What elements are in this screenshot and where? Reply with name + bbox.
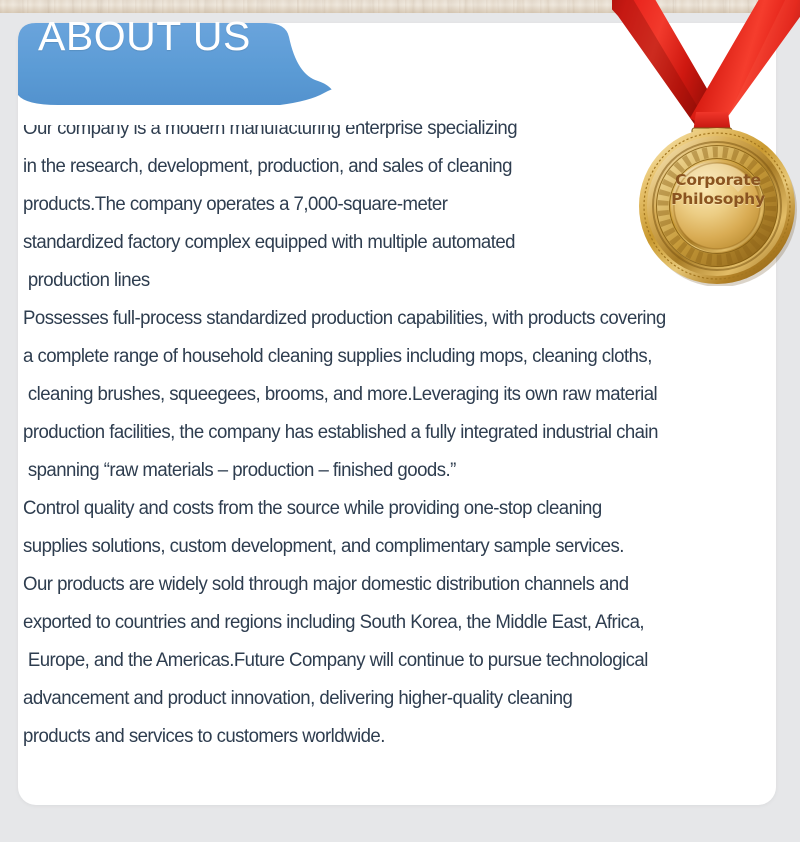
wood-texture-strip <box>0 0 800 13</box>
body-line: a complete range of household cleaning s… <box>23 338 752 376</box>
body-line: spanning “raw materials – production – f… <box>23 452 752 490</box>
paragraph-3: Control quality and costs from the sourc… <box>23 490 778 756</box>
body-line: supplies solutions, custom development, … <box>23 528 752 566</box>
body-line: exported to countries and regions includ… <box>23 604 752 642</box>
body-line: Our products are widely sold through maj… <box>23 566 752 604</box>
body-line: Possesses full-process standardized prod… <box>23 300 752 338</box>
medal-svg <box>638 126 798 286</box>
body-line: Control quality and costs from the sourc… <box>23 490 752 528</box>
body-line: advancement and product innovation, deli… <box>23 680 752 718</box>
wood-grain-overlay <box>0 0 800 13</box>
tab-card-junction <box>18 85 358 125</box>
body-line: Europe, and the Americas.Future Company … <box>23 642 752 680</box>
corporate-philosophy-medal: Corporate Philosophy <box>638 126 798 286</box>
page-title: ABOUT US <box>38 13 251 60</box>
paragraph-2: Possesses full-process standardized prod… <box>23 300 778 490</box>
body-line: production facilities, the company has e… <box>23 414 752 452</box>
body-line: products and services to customers world… <box>23 718 752 756</box>
body-line: cleaning brushes, squeegees, brooms, and… <box>23 376 752 414</box>
